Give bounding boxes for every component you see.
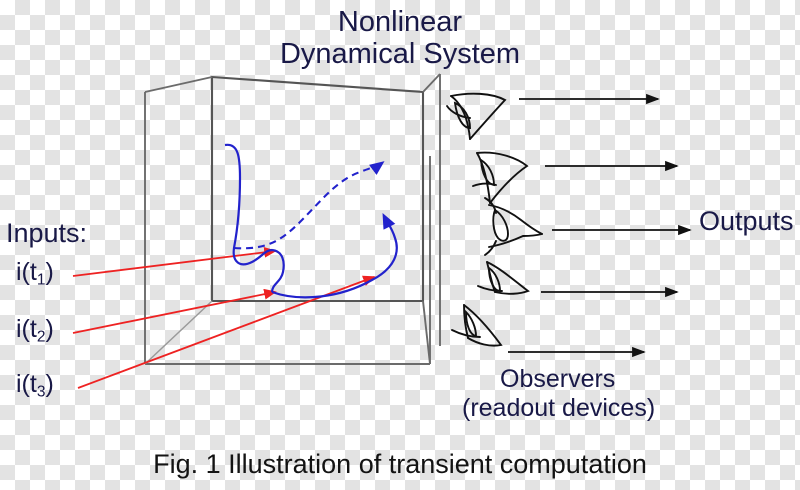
input-term-1-base: i(t [16, 258, 37, 286]
observer-4 [478, 262, 528, 294]
state-trajectory-group [225, 145, 397, 298]
cube-connecting-edges [145, 301, 212, 364]
state-trajectory-dashed [234, 163, 382, 248]
inputs-label: Inputs: [6, 218, 87, 248]
observer-3 [485, 198, 542, 255]
input-term-2-base: i(t [16, 315, 37, 343]
state-trajectory-middle [272, 250, 284, 292]
observer-1 [447, 94, 505, 139]
outputs-label: Outputs [699, 206, 794, 236]
input-term-3-close: ) [45, 370, 53, 398]
cube-front-face [212, 77, 423, 301]
nonlinear-dynamical-system-cube [145, 74, 440, 364]
input-term-2-close: ) [45, 315, 53, 343]
figure-title-line1: Nonlinear [0, 6, 800, 38]
cube-right-edges [423, 74, 440, 364]
input-arrow-3 [78, 277, 374, 388]
input-term-1-close: ) [45, 258, 53, 286]
output-arrows-group [508, 99, 690, 352]
observer-2 [473, 153, 527, 203]
state-trajectory-lower [272, 216, 397, 297]
observer-5 [452, 305, 501, 346]
input-term-2: i(t2) [16, 315, 54, 346]
figure-caption: Fig. 1 Illustration of transient computa… [0, 449, 800, 480]
observers-group [447, 94, 542, 346]
observers-sublabel: (readout devices) [462, 394, 655, 422]
figure-canvas: Nonlinear Dynamical System Inputs: i(t1)… [0, 0, 800, 490]
input-arrows-group [73, 251, 374, 388]
diagram-svg [0, 0, 800, 490]
input-term-1: i(t1) [16, 258, 54, 289]
input-arrow-2 [73, 292, 275, 333]
input-term-3-base: i(t [16, 370, 37, 398]
input-term-3: i(t3) [16, 370, 54, 401]
figure-title-line2: Dynamical System [0, 38, 800, 70]
observers-label: Observers [500, 365, 615, 393]
